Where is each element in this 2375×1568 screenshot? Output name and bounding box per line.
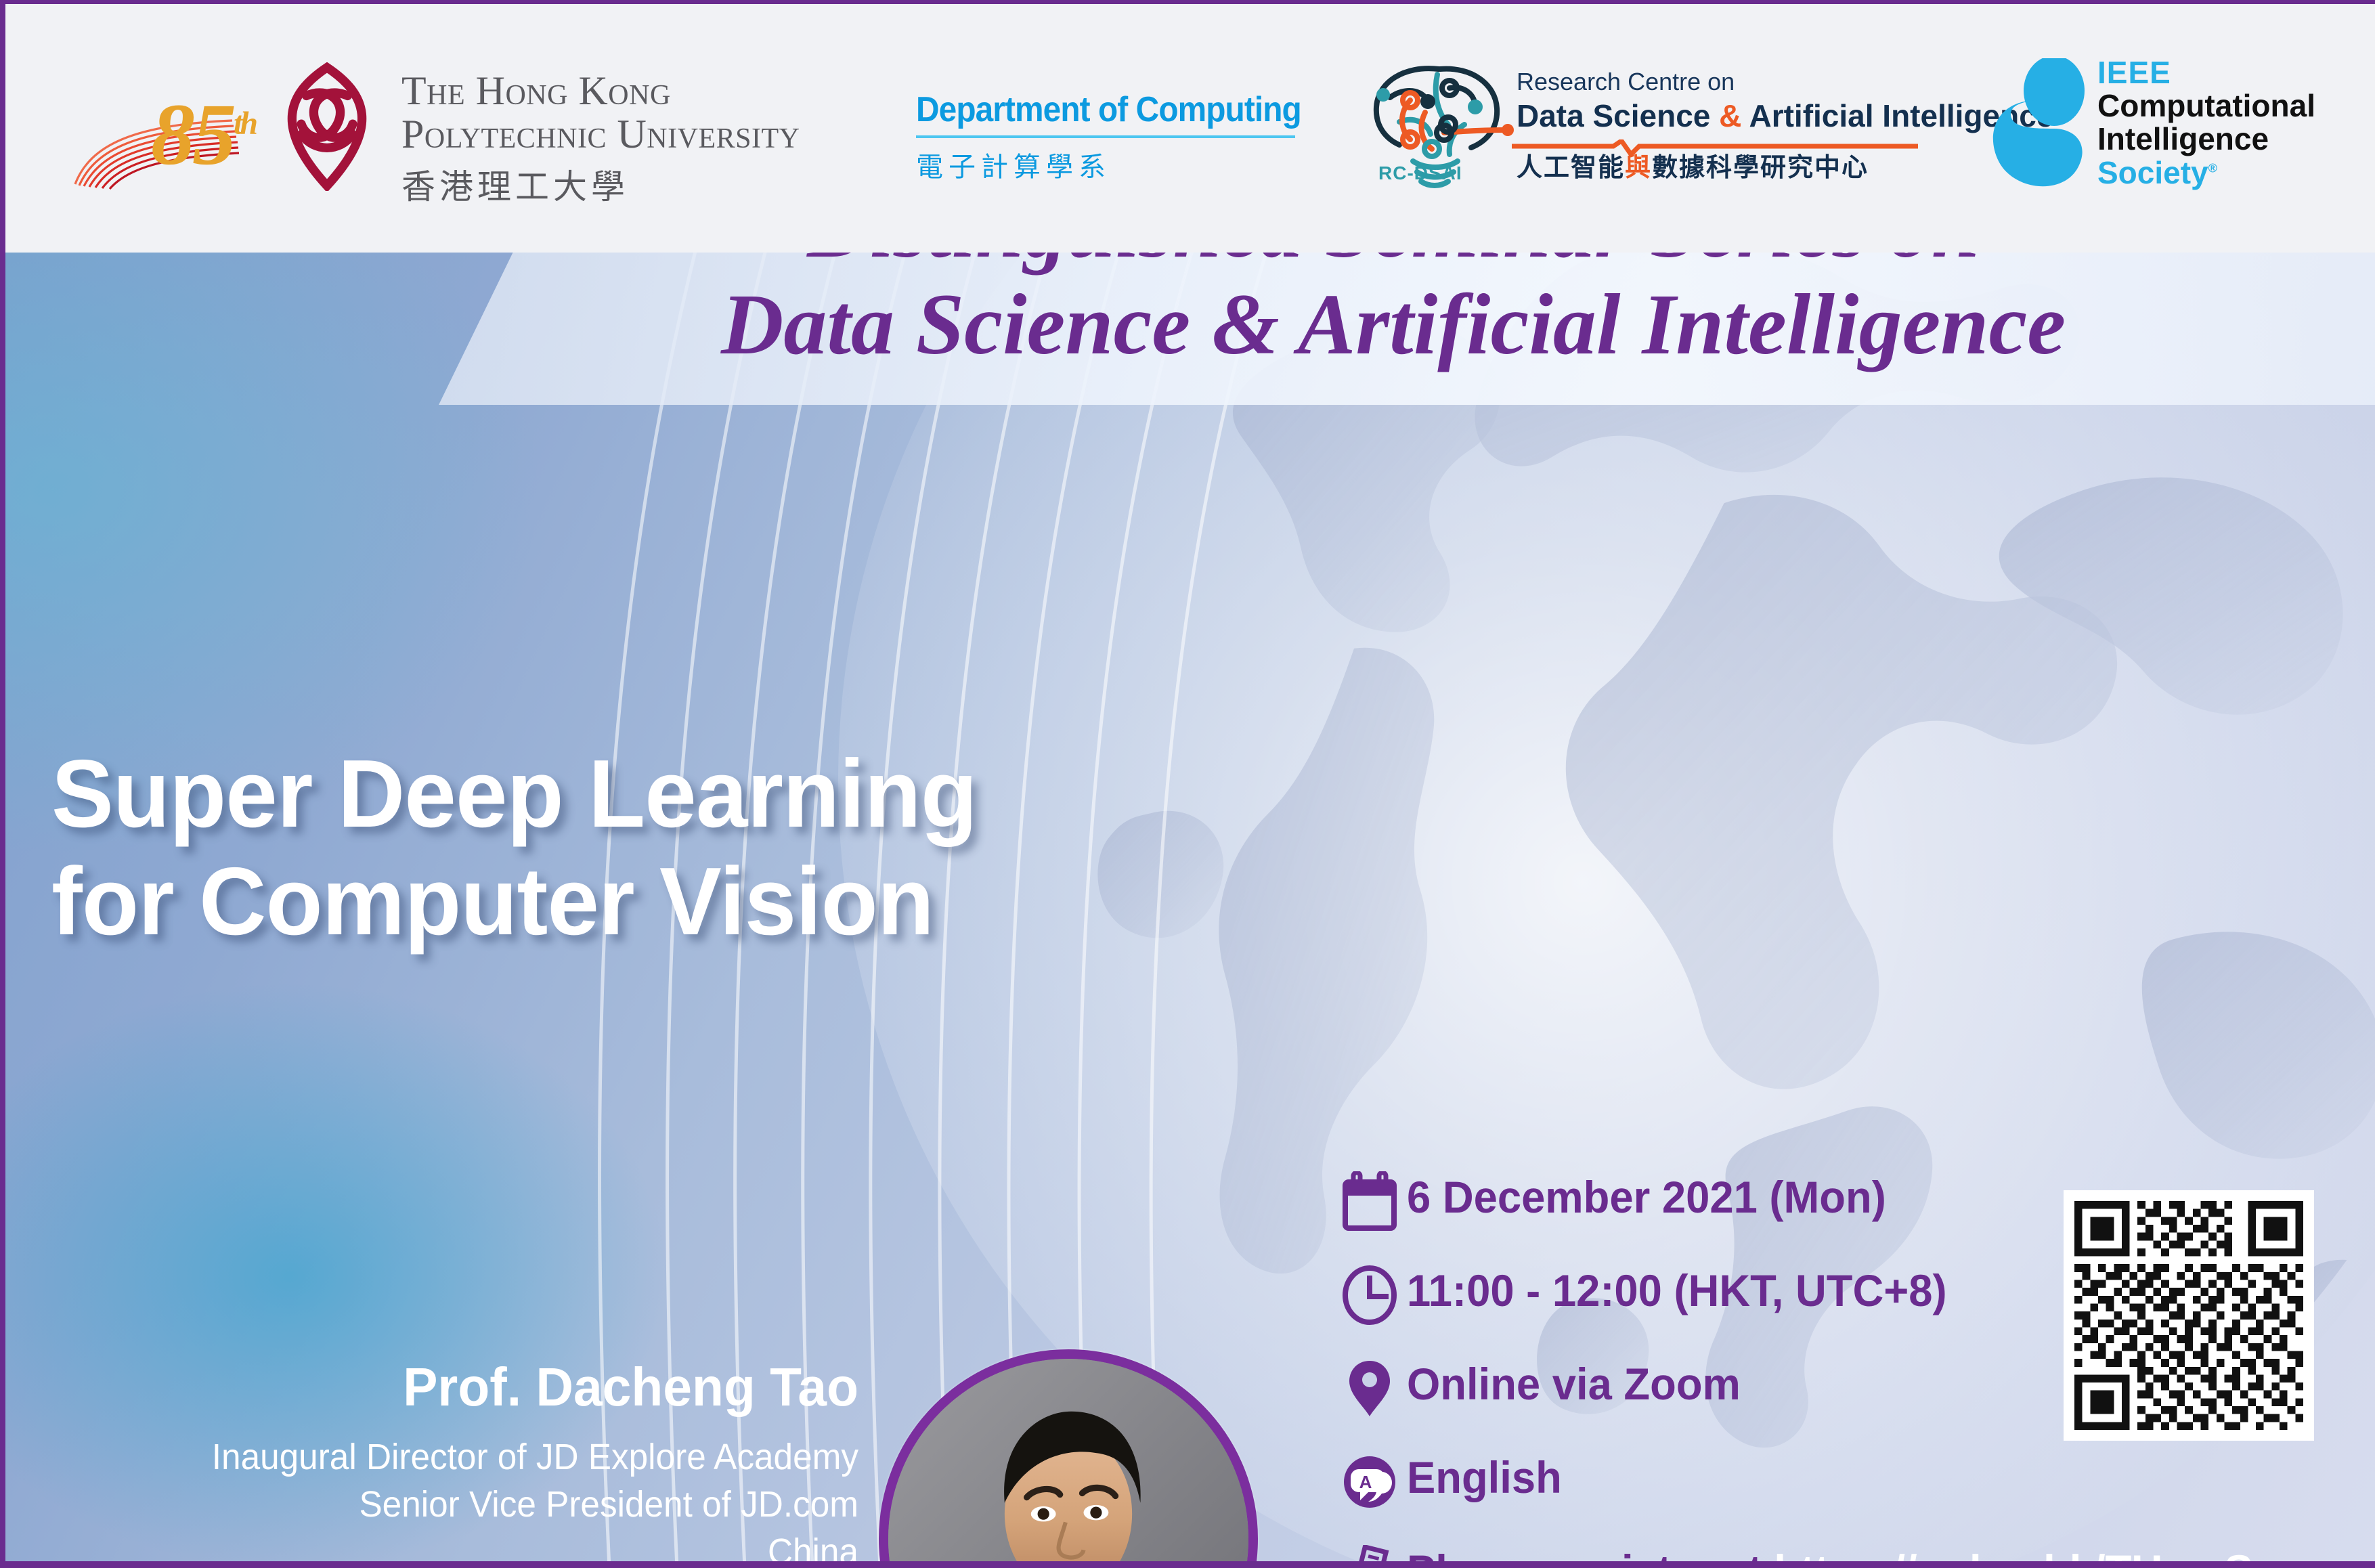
rcdsai-pulse-line-icon bbox=[1512, 139, 1918, 157]
poster-body: Distinguished Seminar Series on Data Sci… bbox=[5, 253, 2375, 1565]
polyu-logo: 85th The Hong Kong Polytechnic Universit… bbox=[70, 57, 835, 192]
speaker-photo bbox=[888, 1359, 1248, 1565]
ieee-line1: IEEE bbox=[2097, 54, 2315, 91]
rc-dsai-wordmark: Research Centre on Data Science & Artifi… bbox=[1517, 68, 2053, 183]
detail-text-time: 11:00 - 12:00 (HKT, UTC+8) bbox=[1407, 1263, 1947, 1319]
talk-title: Super Deep Learning for Computer Vision bbox=[51, 740, 1005, 955]
department-of-computing-logo: Department of Computing 電子計算學系 bbox=[916, 89, 1322, 184]
qr-code-image bbox=[2074, 1201, 2303, 1430]
ieee-cis-mark-icon bbox=[1989, 58, 2091, 194]
ieee-cis-wordmark: IEEE Computational Intelligence Society® bbox=[2097, 54, 2315, 190]
detail-text-date: 6 December 2021 (Mon) bbox=[1407, 1170, 1886, 1225]
polyu-name-line1: The Hong Kong bbox=[401, 69, 800, 112]
calendar-icon bbox=[1332, 1170, 1407, 1232]
speaker-portrait bbox=[879, 1349, 1258, 1565]
speaker-affiliation-line: Inaugural Director of JD Explore Academy bbox=[158, 1433, 859, 1481]
qr-code[interactable] bbox=[2064, 1190, 2314, 1441]
polyu-85th-mark: 85th bbox=[151, 84, 255, 186]
polyu-name-line2: Polytechnic University bbox=[401, 112, 800, 156]
polyu-name-chinese: 香港理工大學 bbox=[401, 160, 800, 209]
speaker-name: Prof. Dacheng Tao bbox=[150, 1356, 858, 1418]
rcdsai-abbreviation: RC-DSAI bbox=[1378, 162, 1462, 184]
ieee-line2: Computational bbox=[2097, 89, 2315, 123]
detail-row-language: A English bbox=[1332, 1450, 2288, 1512]
ieee-line4: Society® bbox=[2097, 156, 2315, 190]
polyu-knot-icon bbox=[263, 62, 391, 191]
comp-name-english: Department of Computing bbox=[916, 89, 1290, 130]
registration-prefix: Please register at bbox=[1407, 1546, 1774, 1565]
pencil-icon bbox=[1332, 1544, 1407, 1565]
speaker-block: Prof. Dacheng Tao Inaugural Director of … bbox=[121, 1356, 858, 1565]
detail-text-registration: Please register at https://polyu.hk/TUsm… bbox=[1407, 1544, 2253, 1565]
ieee-cis-logo: IEEE Computational Intelligence Society® bbox=[1989, 53, 2341, 198]
clock-icon bbox=[1332, 1263, 1407, 1326]
seminar-poster: 85th The Hong Kong Polytechnic Universit… bbox=[0, 0, 2375, 1568]
series-title-line2: Data Science & Artificial Intelligence bbox=[439, 276, 2348, 373]
logo-header-bar: 85th The Hong Kong Polytechnic Universit… bbox=[5, 4, 2375, 253]
talk-title-line1: Super Deep Learning bbox=[51, 740, 977, 848]
location-pin-icon bbox=[1332, 1357, 1407, 1419]
comp-name-chinese: 電子計算學系 bbox=[916, 145, 1322, 184]
polyu-wordmark: The Hong Kong Polytechnic University 香港理… bbox=[401, 69, 800, 209]
registration-url[interactable]: https://polyu.hk/TUsmS bbox=[1774, 1546, 2253, 1565]
speaker-affiliation-line: China bbox=[158, 1528, 859, 1565]
comp-divider bbox=[916, 135, 1295, 138]
rcdsai-line1: Research Centre on bbox=[1517, 68, 2053, 96]
detail-text-venue: Online via Zoom bbox=[1407, 1357, 1741, 1412]
rc-dsai-logo: Research Centre on Data Science & Artifi… bbox=[1359, 60, 1915, 195]
series-title-line1: Distinguished Seminar Series on bbox=[439, 253, 2348, 276]
rcdsai-line2: Data Science & Artificial Intelligence bbox=[1517, 97, 2053, 134]
talk-title-line2: for Computer Vision bbox=[51, 848, 977, 955]
ieee-line3: Intelligence bbox=[2097, 123, 2315, 156]
language-speech-icon: A bbox=[1332, 1450, 1407, 1512]
speaker-affiliation-line: Senior Vice President of JD.com bbox=[158, 1481, 859, 1528]
series-banner: Distinguished Seminar Series on Data Sci… bbox=[439, 253, 2375, 408]
detail-text-language: English bbox=[1407, 1450, 1562, 1506]
detail-row-registration: Please register at https://polyu.hk/TUsm… bbox=[1332, 1544, 2288, 1565]
